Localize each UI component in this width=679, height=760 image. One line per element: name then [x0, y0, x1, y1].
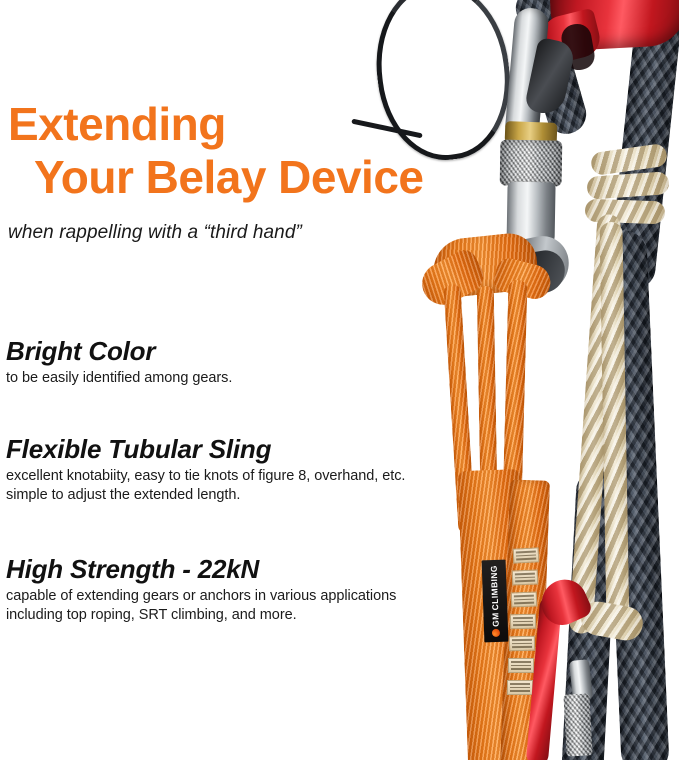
carabiner-screwlock-sleeve — [500, 139, 563, 186]
infographic-page: GM CLIMBING — [0, 0, 679, 760]
spec-tag-2 — [512, 570, 539, 586]
spec-tag-7 — [507, 680, 533, 695]
spec-tag-6 — [508, 658, 534, 673]
spec-tag-3 — [511, 592, 538, 608]
lower-screwgate-sleeve — [563, 693, 592, 756]
headline-block: Extending Your Belay Device — [8, 98, 458, 204]
brand-label-tag: GM CLIMBING — [482, 560, 509, 643]
spec-tag-4 — [510, 614, 536, 629]
feature-body: excellent knotabiity, easy to tie knots … — [6, 467, 462, 505]
feature-title: High Strength - 22kN — [6, 554, 462, 584]
headline-line-2: Your Belay Device — [8, 151, 458, 204]
subtitle: when rappelling with a “third hand” — [8, 222, 302, 244]
feature-body-line: excellent knotabiity, easy to tie knots … — [6, 467, 462, 486]
feature-body-line: simple to adjust the extended length. — [6, 486, 462, 505]
feature-body-line: including top roping, SRT climbing, and … — [6, 606, 462, 625]
feature-body-line: to be easily identified among gears. — [6, 369, 462, 388]
feature-body: capable of extending gears or anchors in… — [6, 587, 462, 625]
spec-tag-5 — [509, 636, 535, 651]
gm-logo-icon — [492, 629, 500, 637]
headline-line-1: Extending — [8, 98, 458, 151]
feature-title: Bright Color — [6, 336, 462, 366]
feature-flexible-tubular-sling: Flexible Tubular Sling excellent knotabi… — [6, 434, 462, 505]
feature-high-strength: High Strength - 22kN capable of extendin… — [6, 554, 462, 625]
brand-mark-text: GM — [490, 612, 500, 627]
feature-title: Flexible Tubular Sling — [6, 434, 462, 464]
brand-label-text: CLIMBING — [489, 565, 501, 611]
feature-body-line: capable of extending gears or anchors in… — [6, 587, 462, 606]
feature-body: to be easily identified among gears. — [6, 369, 462, 388]
prusik-wrap-3 — [585, 199, 666, 225]
spec-tag-1 — [513, 547, 540, 563]
text-column: Extending Your Belay Device when rappell… — [0, 0, 470, 760]
feature-bright-color: Bright Color to be easily identified amo… — [6, 336, 462, 388]
